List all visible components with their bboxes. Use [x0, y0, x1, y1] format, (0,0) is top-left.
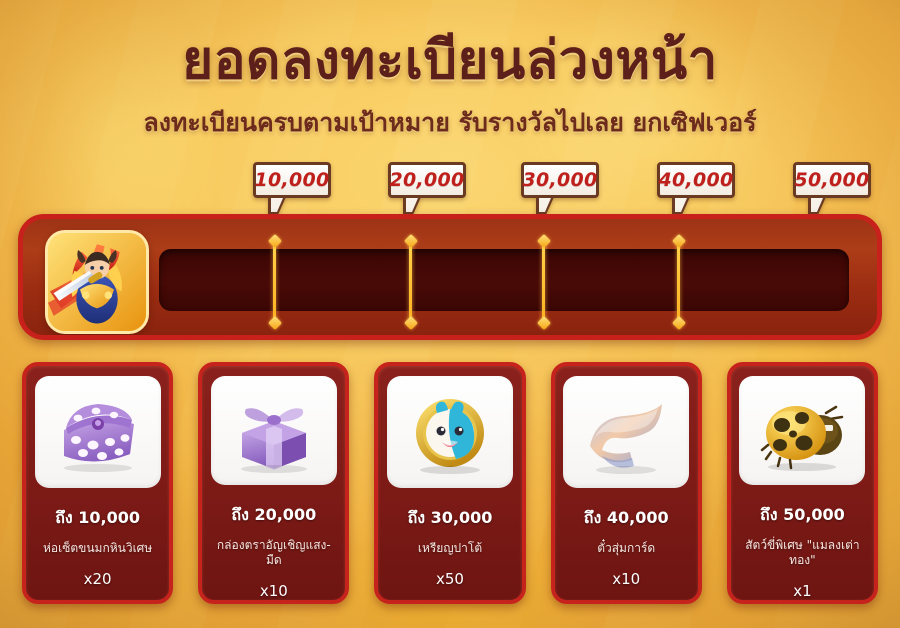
progress-bar-frame	[18, 214, 882, 340]
milestone-bubble-label: 40,000	[658, 169, 733, 191]
reward-goal-label: ถึง 50,000	[760, 503, 845, 528]
reward-card[interactable]: ถึง 20,000กล่องตราอัญเชิญแสง-มืดx10	[198, 362, 349, 604]
page-title: ยอดลงทะเบียนล่วงหน้า	[0, 34, 900, 87]
reward-goal-label: ถึง 40,000	[584, 506, 669, 531]
reward-goal-label: ถึง 20,000	[231, 503, 316, 528]
progress-tick-10000	[273, 241, 276, 323]
progress-tick-40000	[677, 241, 680, 323]
reward-quantity: x10	[260, 582, 288, 600]
card-draw-ticket-scroll-icon	[563, 376, 689, 488]
purple-gift-box-icon	[211, 376, 337, 485]
milestone-bubble-20000: 20,000	[388, 162, 466, 198]
milestone-bubble-label: 10,000	[254, 169, 329, 191]
reward-card-list: ถึง 10,000ห่อเซ็ตขนมกหินวิเศษx20 ถึง 20,…	[22, 362, 878, 604]
milestone-bubble-10000: 10,000	[253, 162, 331, 198]
milestone-bubble-50000: 50,000	[793, 162, 871, 198]
milestone-bubble-label: 50,000	[794, 169, 869, 191]
reward-quantity: x1	[793, 582, 811, 600]
gold-mascot-coin-icon	[387, 376, 513, 488]
reward-goal-label: ถึง 10,000	[55, 506, 140, 531]
reward-card[interactable]: ถึง 50,000สัตว์ขี่พิเศษ "แมลงเต่าทอง"x1	[727, 362, 878, 604]
page-subtitle: ลงทะเบียนครบตามเป้าหมาย รับรางวัลไปเลย ย…	[0, 108, 900, 138]
reward-description: เหรียญปาโต้	[415, 541, 485, 556]
milestone-bubble-30000: 30,000	[521, 162, 599, 198]
progress-tick-30000	[542, 241, 545, 323]
reward-goal-label: ถึง 30,000	[408, 506, 493, 531]
reward-description: สัตว์ขี่พิเศษ "แมลงเต่าทอง"	[739, 538, 866, 568]
progress-bar-track	[159, 249, 849, 311]
reward-card[interactable]: ถึง 40,000ตั๋วสุ่มการ์ดx10	[551, 362, 702, 604]
reward-quantity: x20	[84, 570, 112, 588]
purple-polka-dot-pouch-icon	[35, 376, 161, 488]
reward-description: ห่อเซ็ตขนมกหินวิเศษ	[40, 541, 155, 556]
reward-description: กล่องตราอัญเชิญแสง-มืด	[210, 538, 337, 568]
milestone-bubble-40000: 40,000	[657, 162, 735, 198]
reward-card[interactable]: ถึง 30,000เหรียญปาโต้x50	[374, 362, 525, 604]
milestone-bubble-label: 30,000	[522, 169, 597, 191]
avatar[interactable]	[45, 230, 149, 334]
milestone-bubble-label: 20,000	[389, 169, 464, 191]
reward-quantity: x50	[436, 570, 464, 588]
reward-card[interactable]: ถึง 10,000ห่อเซ็ตขนมกหินวิเศษx20	[22, 362, 173, 604]
reward-description: ตั๋วสุ่มการ์ด	[594, 541, 658, 556]
progress-tick-20000	[409, 241, 412, 323]
reward-quantity: x10	[612, 570, 640, 588]
golden-ladybug-mount-icon	[739, 376, 865, 485]
gold-armored-warrior-avatar	[48, 233, 146, 331]
progress-bar-midband	[23, 219, 877, 335]
